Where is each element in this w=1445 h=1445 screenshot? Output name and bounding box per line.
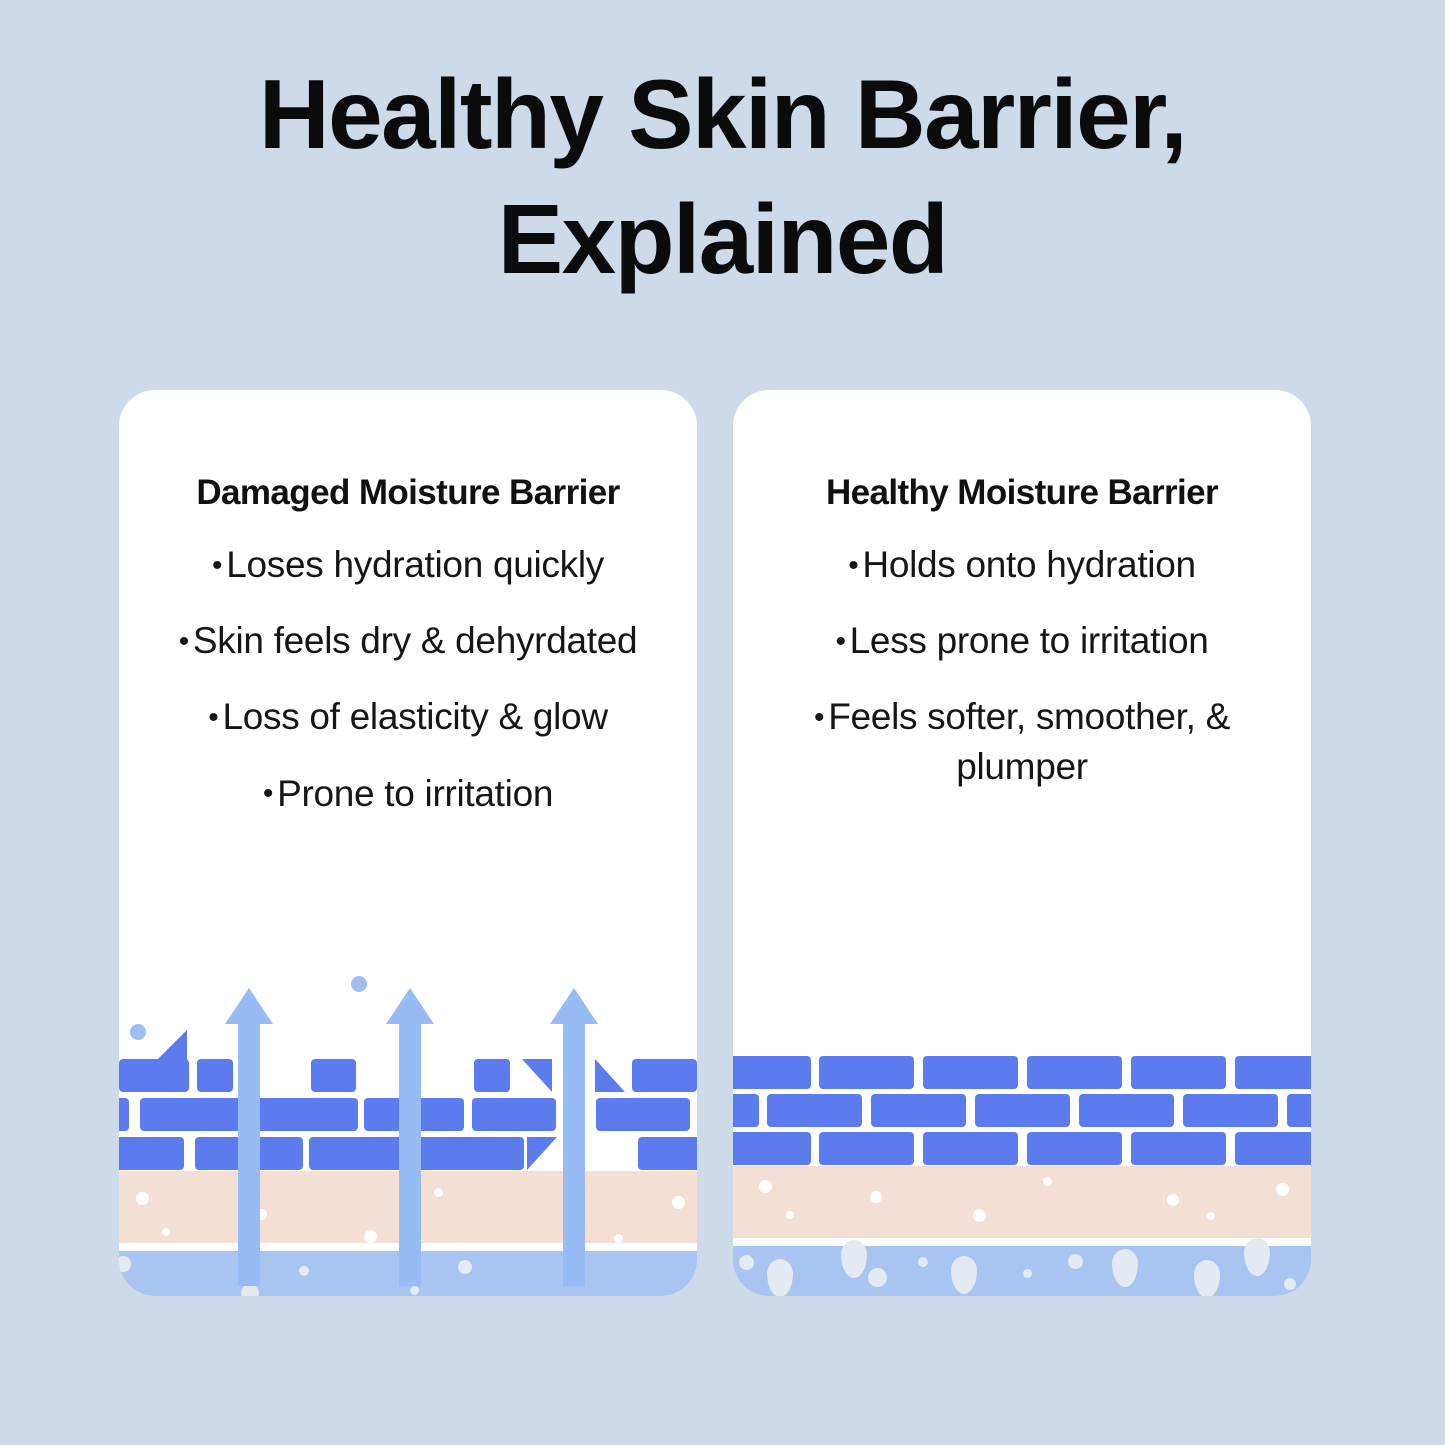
- brick: [254, 1098, 358, 1131]
- brick: [923, 1056, 1018, 1089]
- moisture-dot: [364, 1230, 377, 1243]
- bullet-icon: •: [263, 777, 273, 810]
- list-item-label: Prone to irritation: [277, 773, 553, 814]
- brick: [596, 1098, 690, 1131]
- arrow-shaft: [563, 1018, 585, 1286]
- list-item-label: Less prone to irritation: [850, 620, 1209, 661]
- moisture-dot: [434, 1188, 443, 1197]
- brick: [1027, 1056, 1122, 1089]
- moisture-dot: [1207, 1212, 1215, 1220]
- brick: [871, 1094, 966, 1127]
- moisture-dot: [1023, 1269, 1032, 1278]
- moisture-dot: [868, 1268, 887, 1287]
- list-item: •Skin feels dry & dehyrdated: [139, 616, 677, 665]
- brick: [472, 1098, 556, 1131]
- card-damaged-bullet-list: •Loses hydration quickly •Skin feels dry…: [139, 540, 677, 845]
- list-item-label: Skin feels dry & dehyrdated: [193, 620, 637, 661]
- moisture-dot: [410, 1286, 419, 1295]
- escaping-particle: [130, 1024, 146, 1040]
- broken-brick-shard: [157, 1030, 187, 1060]
- brick: [923, 1132, 1018, 1165]
- brick: [119, 1137, 184, 1170]
- list-item-label: Holds onto hydration: [862, 544, 1195, 585]
- bullet-icon: •: [179, 625, 189, 658]
- brick: [119, 1059, 189, 1092]
- brick: [1183, 1094, 1278, 1127]
- arrow-shaft: [238, 1018, 260, 1286]
- brick: [474, 1059, 510, 1092]
- moisture-dot: [672, 1196, 685, 1209]
- moisture-dot: [162, 1228, 170, 1236]
- brick: [975, 1094, 1070, 1127]
- damaged-skin-barrier-diagram: [119, 966, 697, 1296]
- list-item: •Loss of elasticity & glow: [139, 692, 677, 741]
- moisture-dot: [1276, 1183, 1289, 1196]
- card-damaged-heading: Damaged Moisture Barrier: [119, 473, 697, 513]
- moisture-dot: [458, 1260, 472, 1274]
- list-item: •Less prone to irritation: [753, 616, 1291, 665]
- card-damaged-moisture-barrier: Damaged Moisture Barrier •Loses hydratio…: [119, 390, 697, 1296]
- list-item-label: Feels softer, smoother, & plumper: [828, 696, 1230, 786]
- bullet-icon: •: [814, 701, 824, 734]
- bullet-icon: •: [835, 625, 845, 658]
- card-healthy-bullet-list: •Holds onto hydration •Less prone to irr…: [753, 540, 1291, 818]
- brick: [733, 1094, 759, 1127]
- moisture-dot: [918, 1257, 928, 1267]
- moisture-dot: [870, 1191, 882, 1203]
- broken-brick-shard: [527, 1137, 557, 1170]
- list-item: •Feels softer, smoother, & plumper: [753, 692, 1291, 790]
- brick: [733, 1132, 811, 1165]
- brick: [632, 1059, 697, 1092]
- moisture-dot: [614, 1234, 623, 1243]
- brick: [819, 1056, 914, 1089]
- moisture-dot: [136, 1192, 149, 1205]
- moisture-loss-arrow: [399, 988, 421, 1278]
- brick: [197, 1059, 233, 1092]
- moisture-dot: [759, 1180, 772, 1193]
- moisture-dot: [1167, 1194, 1179, 1206]
- page-title-line-1: Healthy Skin Barrier,: [0, 52, 1445, 177]
- list-item: •Holds onto hydration: [753, 540, 1291, 589]
- brick: [1235, 1056, 1311, 1089]
- arrow-shaft: [399, 1018, 421, 1286]
- list-item-label: Loss of elasticity & glow: [222, 696, 607, 737]
- list-item: •Prone to irritation: [139, 769, 677, 818]
- card-healthy-heading: Healthy Moisture Barrier: [733, 473, 1311, 513]
- broken-brick-shard: [522, 1059, 552, 1092]
- bullet-icon: •: [848, 549, 858, 582]
- brick: [1131, 1056, 1226, 1089]
- water-droplet-icon: [1194, 1260, 1220, 1296]
- brick: [1131, 1132, 1226, 1165]
- moisture-dot: [1043, 1177, 1052, 1186]
- broken-brick-shard: [595, 1059, 625, 1092]
- bullet-icon: •: [208, 701, 218, 734]
- brick: [767, 1094, 862, 1127]
- moisture-dot: [1284, 1278, 1296, 1290]
- moisture-dot: [786, 1211, 794, 1219]
- brick: [140, 1098, 244, 1131]
- brick: [638, 1137, 697, 1170]
- bullet-icon: •: [212, 549, 222, 582]
- brick: [255, 1137, 303, 1170]
- escaping-particle: [351, 976, 367, 992]
- moisture-dot: [739, 1255, 754, 1270]
- card-healthy-moisture-barrier: Healthy Moisture Barrier •Holds onto hyd…: [733, 390, 1311, 1296]
- brick: [1079, 1094, 1174, 1127]
- healthy-skin-barrier-diagram: [733, 966, 1311, 1296]
- moisture-loss-arrow: [563, 988, 585, 1278]
- brick: [819, 1132, 914, 1165]
- brick: [119, 1098, 129, 1131]
- dermis-layer: [733, 1166, 1311, 1238]
- list-item: •Loses hydration quickly: [139, 540, 677, 589]
- brick: [311, 1059, 356, 1092]
- brick: [1235, 1132, 1311, 1165]
- moisture-dot: [1068, 1254, 1083, 1269]
- brick: [1027, 1132, 1122, 1165]
- moisture-loss-arrow: [238, 988, 260, 1278]
- moisture-dot: [299, 1266, 309, 1276]
- brick: [733, 1056, 811, 1089]
- brick: [195, 1137, 241, 1170]
- page-title: Healthy Skin Barrier, Explained: [0, 52, 1445, 303]
- moisture-dot: [973, 1209, 986, 1222]
- hydration-layer: [733, 1246, 1311, 1296]
- list-item-label: Loses hydration quickly: [226, 544, 604, 585]
- brick: [1287, 1094, 1311, 1127]
- page-title-line-2: Explained: [0, 177, 1445, 302]
